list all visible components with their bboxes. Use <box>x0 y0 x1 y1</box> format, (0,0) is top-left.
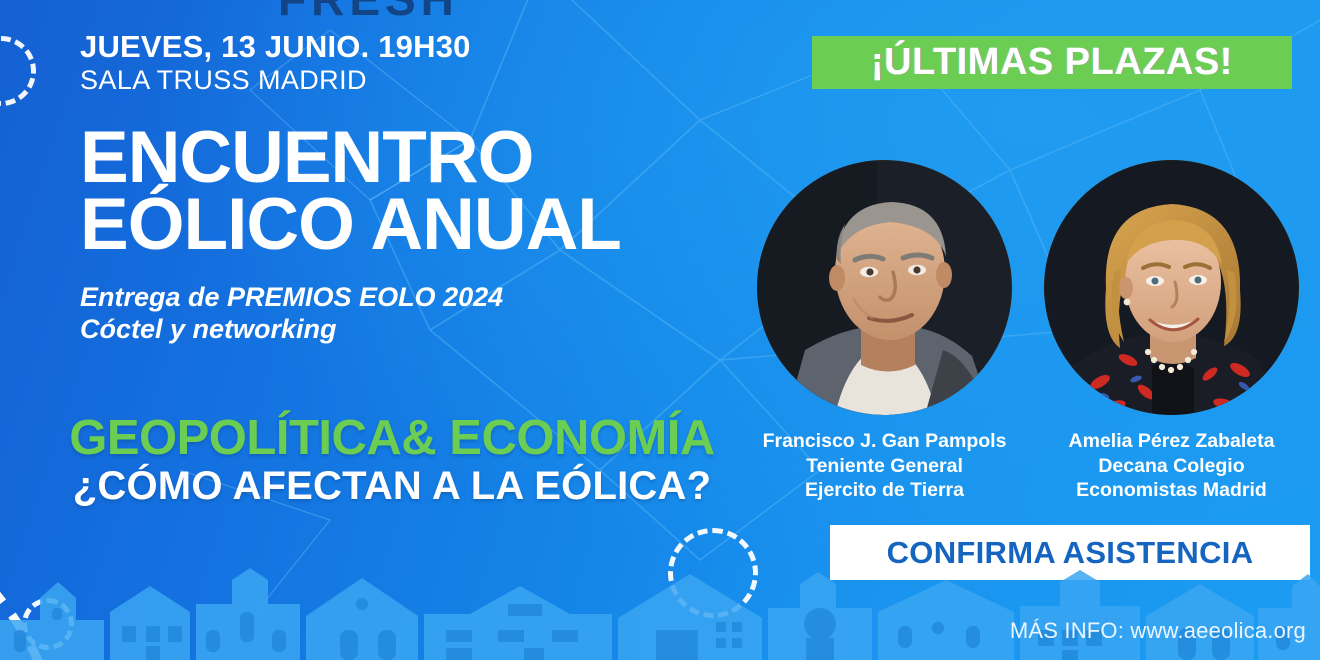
page-title: ENCUENTRO EÓLICO ANUAL <box>80 124 780 258</box>
city-skyline-silhouette <box>0 568 1320 660</box>
more-info-text: MÁS INFO: www.aeeolica.org <box>1010 618 1306 644</box>
event-poster: FRESH JUEVES, 13 JUNIO. 19H30 SALA TRUSS… <box>0 0 1320 660</box>
avatar <box>1044 160 1299 415</box>
status-badge-label: ¡ÚLTIMAS PLAZAS! <box>871 41 1233 84</box>
theme-question-white: ¿CÓMO AFECTAN A LA EÓLICA? <box>32 465 752 507</box>
event-date: JUEVES, 13 JUNIO. 19H30 <box>80 30 780 63</box>
portrait-francisco-gan-pampols <box>757 160 1012 415</box>
top-cropped-word: FRESH <box>278 0 459 26</box>
status-badge: ¡ÚLTIMAS PLAZAS! <box>812 36 1292 89</box>
speaker-name: Amelia Pérez Zabaleta <box>1069 429 1275 454</box>
list-item: Amelia Pérez Zabaleta Decana Colegio Eco… <box>1035 160 1308 503</box>
event-details-column: JUEVES, 13 JUNIO. 19H30 SALA TRUSS MADRI… <box>80 30 780 346</box>
confirm-attendance-label: CONFIRMA ASISTENCIA <box>887 535 1254 571</box>
dashed-circle-icon <box>22 598 74 650</box>
event-venue: SALA TRUSS MADRID <box>80 65 780 96</box>
speakers-list: Francisco J. Gan Pampols Teniente Genera… <box>748 160 1308 503</box>
theme-headline-green: GEOPOLÍTICA& ECONOMÍA <box>32 414 752 463</box>
dashed-arc-icon <box>0 500 124 660</box>
speaker-role-line1: Teniente General <box>806 454 963 479</box>
speaker-role-line2: Ejercito de Tierra <box>805 478 964 503</box>
event-subtitle-line1: Entrega de PREMIOS EOLO 2024 <box>80 282 780 314</box>
dashed-circle-icon <box>0 36 36 106</box>
event-subtitle-line2: Cóctel y networking <box>80 314 780 346</box>
speaker-role-line2: Economistas Madrid <box>1076 478 1267 503</box>
list-item: Francisco J. Gan Pampols Teniente Genera… <box>748 160 1021 503</box>
confirm-attendance-button[interactable]: CONFIRMA ASISTENCIA <box>830 525 1310 580</box>
avatar <box>757 160 1012 415</box>
dashed-circle-icon <box>668 528 758 618</box>
theme-block: GEOPOLÍTICA& ECONOMÍA ¿CÓMO AFECTAN A LA… <box>32 414 752 507</box>
event-subtitle: Entrega de PREMIOS EOLO 2024 Cóctel y ne… <box>80 282 780 346</box>
page-title-line2: EÓLICO ANUAL <box>80 191 780 258</box>
speaker-role-line1: Decana Colegio <box>1098 454 1244 479</box>
portrait-amelia-perez-zabaleta <box>1044 160 1299 415</box>
speaker-name: Francisco J. Gan Pampols <box>763 429 1007 454</box>
